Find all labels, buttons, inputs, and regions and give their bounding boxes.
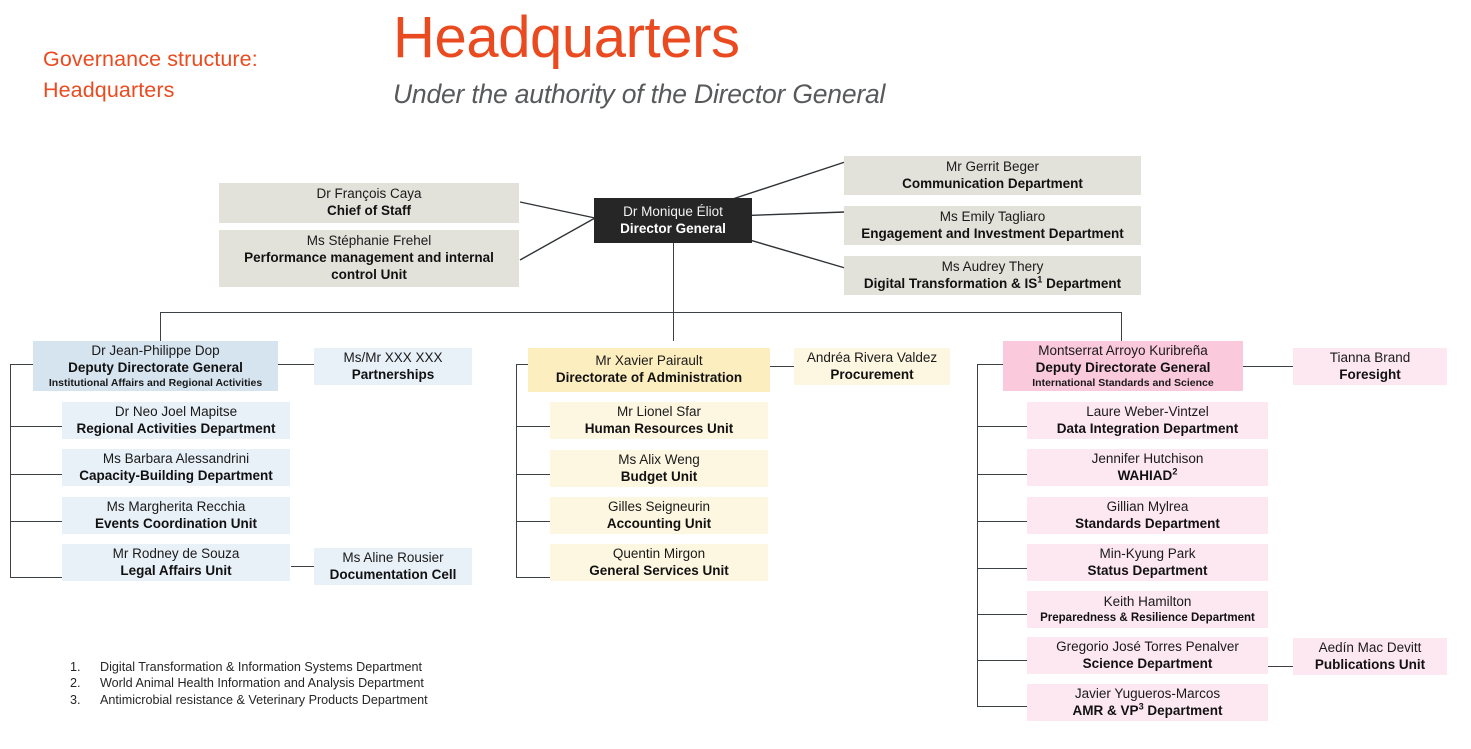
role-title: Engagement and Investment Department <box>861 226 1124 243</box>
person-name: Ms Aline Rousier <box>342 550 443 567</box>
col2-branch-4 <box>516 577 550 578</box>
col2-branch-1 <box>516 426 550 427</box>
role-title: Status Department <box>1087 563 1207 580</box>
person-name: Aedín Mac Devitt <box>1319 640 1422 657</box>
person-name: Ms Stéphanie Frehel <box>307 233 432 250</box>
col3-branch-4 <box>977 568 1027 569</box>
person-name: Ms/Mr XXX XXX <box>343 350 442 367</box>
box-wahiad[interactable]: Jennifer Hutchison WAHIAD2 <box>1027 449 1268 486</box>
col3-head-side-line <box>1243 366 1293 367</box>
box-budget-unit[interactable]: Ms Alix Weng Budget Unit <box>550 450 768 487</box>
footnote-text: Antimicrobial resistance & Veterinary Pr… <box>100 692 428 708</box>
role-title: Directorate of Administration <box>556 370 742 387</box>
box-amr-vp-department[interactable]: Javier Yugueros-Marcos AMR & VP3 Departm… <box>1027 684 1268 721</box>
bus-left-drop <box>160 312 161 341</box>
box-status-department[interactable]: Min-Kyung Park Status Department <box>1027 544 1268 581</box>
box-engagement-department[interactable]: Ms Emily Tagliaro Engagement and Investm… <box>844 206 1141 245</box>
slide-kicker: Governance structure: Headquarters <box>43 44 373 105</box>
page-subtitle: Under the authority of the Director Gene… <box>393 80 885 109</box>
role-title: Deputy Directorate General <box>68 360 243 377</box>
role-title: AMR & VP3 Department <box>1073 703 1223 720</box>
role-title: Performance management and internal cont… <box>223 250 515 284</box>
role-title: Partnerships <box>352 367 435 384</box>
box-foresight[interactable]: Tianna Brand Foresight <box>1293 348 1447 385</box>
col1-branch-1 <box>10 426 62 427</box>
person-name: Gilles Seigneurin <box>608 499 710 516</box>
page-title: Headquarters <box>393 8 740 69</box>
col3-branch-3 <box>977 521 1027 522</box>
col2-branch-3 <box>516 521 550 522</box>
col2-branch-head <box>516 364 528 365</box>
box-general-services[interactable]: Quentin Mirgon General Services Unit <box>550 544 768 581</box>
role-title: Foresight <box>1339 367 1401 384</box>
box-documentation-cell[interactable]: Ms Aline Rousier Documentation Cell <box>314 548 472 585</box>
person-name: Javier Yugueros-Marcos <box>1075 686 1220 703</box>
role-title: Communication Department <box>902 176 1083 193</box>
col3-branch-7 <box>977 706 1027 707</box>
col1-branch-3 <box>10 521 62 522</box>
person-name: Min-Kyung Park <box>1099 546 1195 563</box>
role-title: Procurement <box>830 367 913 384</box>
person-name: Jennifer Hutchison <box>1092 451 1204 468</box>
bus-mid-drop <box>673 312 674 341</box>
box-human-resources[interactable]: Mr Lionel Sfar Human Resources Unit <box>550 402 768 439</box>
role-title: Science Department <box>1083 656 1213 673</box>
box-procurement[interactable]: Andréa Rivera Valdez Procurement <box>794 348 950 385</box>
bus-right-drop <box>1121 312 1122 341</box>
footnote-number: 1. <box>70 659 100 675</box>
box-directorate-administration[interactable]: Mr Xavier Pairault Directorate of Admini… <box>528 348 770 392</box>
role-title: Human Resources Unit <box>585 421 734 438</box>
role-title: Events Coordination Unit <box>95 516 257 533</box>
box-legal-affairs[interactable]: Mr Rodney de Souza Legal Affairs Unit <box>62 544 290 581</box>
org-chart-slide: Governance structure: Headquarters Headq… <box>0 0 1471 749</box>
person-name: Dr Monique Éliot <box>623 204 723 221</box>
role-title: Capacity-Building Department <box>79 468 273 485</box>
box-science-department[interactable]: Gregorio José Torres Penalver Science De… <box>1027 637 1268 674</box>
person-name: Gregorio José Torres Penalver <box>1056 639 1239 656</box>
role-subtitle: Institutional Affairs and Regional Activ… <box>49 377 262 390</box>
box-deputy-standards[interactable]: Montserrat Arroyo Kuribreña Deputy Direc… <box>1003 341 1243 391</box>
box-communication-department[interactable]: Mr Gerrit Beger Communication Department <box>844 156 1141 195</box>
col3-branch-5 <box>977 614 1027 615</box>
person-name: Dr François Caya <box>316 186 421 203</box>
person-name: Quentin Mirgon <box>613 546 705 563</box>
role-title: Standards Department <box>1075 516 1220 533</box>
box-regional-activities[interactable]: Dr Neo Joel Mapitse Regional Activities … <box>62 402 290 439</box>
role-title: Chief of Staff <box>327 203 411 220</box>
role-title: Accounting Unit <box>607 516 711 533</box>
role-title: Data Integration Department <box>1057 421 1239 438</box>
person-name: Keith Hamilton <box>1104 594 1192 611</box>
role-subtitle: International Standards and Science <box>1032 377 1213 390</box>
person-name: Dr Jean-Philippe Dop <box>91 343 219 360</box>
role-title: Deputy Directorate General <box>1036 360 1211 377</box>
role-title: Preparedness & Resilience Department <box>1040 611 1255 625</box>
box-digital-department[interactable]: Ms Audrey Thery Digital Transformation &… <box>844 256 1141 295</box>
box-standards-department[interactable]: Gillian Mylrea Standards Department <box>1027 497 1268 534</box>
person-name: Ms Audrey Thery <box>942 259 1044 276</box>
person-name: Gillian Mylrea <box>1107 499 1189 516</box>
person-name: Mr Rodney de Souza <box>113 546 240 563</box>
col1-spine <box>10 364 11 578</box>
role-title: Budget Unit <box>621 469 698 486</box>
person-name: Ms Barbara Alessandrini <box>103 451 249 468</box>
main-bus-line <box>160 312 1122 313</box>
box-events-coordination[interactable]: Ms Margherita Recchia Events Coordinatio… <box>62 497 290 534</box>
person-name: Montserrat Arroyo Kuribreña <box>1038 343 1208 360</box>
role-title: Documentation Cell <box>330 567 457 584</box>
person-name: Mr Lionel Sfar <box>617 404 701 421</box>
box-preparedness-resilience[interactable]: Keith Hamilton Preparedness & Resilience… <box>1027 591 1268 628</box>
person-name: Laure Weber-Vintzel <box>1086 404 1209 421</box>
role-title: Director General <box>620 221 726 238</box>
footnotes-list: 1. Digital Transformation & Information … <box>70 659 428 708</box>
col3-science-side-line <box>1268 666 1294 667</box>
footnote-item: 3. Antimicrobial resistance & Veterinary… <box>70 692 428 708</box>
role-title: Publications Unit <box>1315 657 1425 674</box>
role-title: Digital Transformation & IS1 Department <box>864 276 1121 293</box>
col1-legal-side-line <box>291 566 315 567</box>
footnote-number: 2. <box>70 675 100 691</box>
person-name: Tianna Brand <box>1330 350 1411 367</box>
person-name: Ms Alix Weng <box>618 452 700 469</box>
col2-head-side-line <box>770 366 794 367</box>
role-title: Legal Affairs Unit <box>120 563 231 580</box>
col3-spine <box>977 364 978 706</box>
box-director-general[interactable]: Dr Monique Éliot Director General <box>594 198 752 243</box>
footnote-item: 1. Digital Transformation & Information … <box>70 659 428 675</box>
person-name: Ms Margherita Recchia <box>107 499 246 516</box>
col2-spine <box>516 364 517 578</box>
footnote-number: 3. <box>70 692 100 708</box>
person-name: Mr Xavier Pairault <box>595 353 702 370</box>
col1-branch-4 <box>10 577 62 578</box>
footnote-text: Digital Transformation & Information Sys… <box>100 659 422 675</box>
box-performance-unit[interactable]: Ms Stéphanie Frehel Performance manageme… <box>219 230 519 287</box>
box-partnerships[interactable]: Ms/Mr XXX XXX Partnerships <box>314 348 472 385</box>
role-title: Regional Activities Department <box>76 421 275 438</box>
footnote-item: 2. World Animal Health Information and A… <box>70 675 428 691</box>
col2-branch-2 <box>516 474 550 475</box>
box-chief-of-staff[interactable]: Dr François Caya Chief of Staff <box>219 183 519 223</box>
box-capacity-building[interactable]: Ms Barbara Alessandrini Capacity-Buildin… <box>62 449 290 486</box>
box-deputy-institutional[interactable]: Dr Jean-Philippe Dop Deputy Directorate … <box>33 341 278 391</box>
role-title: General Services Unit <box>589 563 729 580</box>
person-name: Ms Emily Tagliaro <box>940 209 1046 226</box>
footnote-text: World Animal Health Information and Anal… <box>100 675 424 691</box>
col3-branch-1 <box>977 426 1027 427</box>
box-publications-unit[interactable]: Aedín Mac Devitt Publications Unit <box>1293 638 1447 675</box>
col3-branch-6 <box>977 660 1027 661</box>
person-name: Dr Neo Joel Mapitse <box>115 404 237 421</box>
col1-branch-2 <box>10 474 62 475</box>
role-title: WAHIAD2 <box>1118 468 1178 485</box>
col1-head-side-line <box>278 364 314 365</box>
col3-branch-2 <box>977 474 1027 475</box>
box-data-integration[interactable]: Laure Weber-Vintzel Data Integration Dep… <box>1027 402 1268 439</box>
person-name: Mr Gerrit Beger <box>946 159 1039 176</box>
dg-drop-line <box>673 243 674 313</box>
box-accounting-unit[interactable]: Gilles Seigneurin Accounting Unit <box>550 497 768 534</box>
person-name: Andréa Rivera Valdez <box>807 350 937 367</box>
